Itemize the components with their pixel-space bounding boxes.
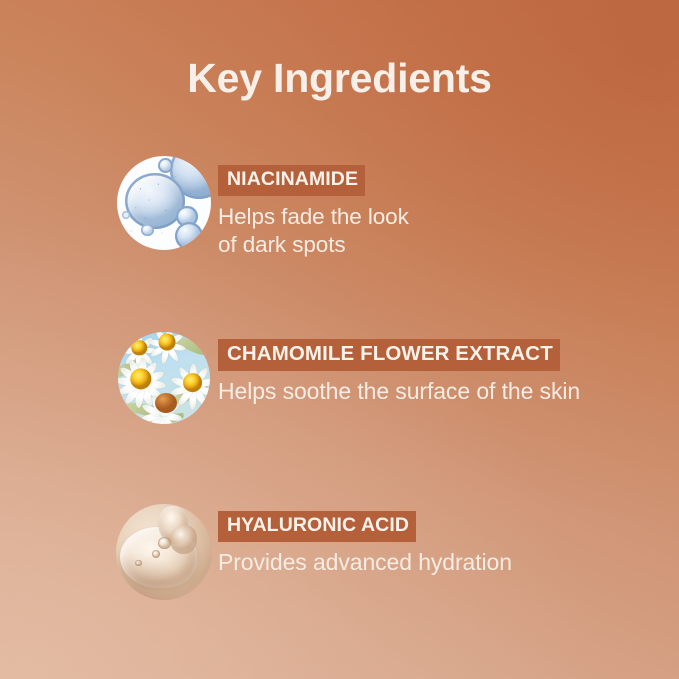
flower-bud bbox=[155, 393, 177, 413]
chamomile-flowers-swatch-icon bbox=[118, 332, 210, 424]
ingredient-row: HYALURONIC ACID Provides advanced hydrat… bbox=[110, 502, 655, 600]
page-title: Key Ingredients bbox=[0, 58, 679, 99]
ingredient-text-column: CHAMOMILE FLOWER EXTRACT Helps soothe th… bbox=[218, 330, 655, 405]
ingredient-text-column: HYALURONIC ACID Provides advanced hydrat… bbox=[218, 502, 655, 576]
ingredient-label: NIACINAMIDE bbox=[218, 165, 365, 196]
serum-shadow bbox=[116, 504, 212, 600]
swatch-wrap bbox=[110, 156, 218, 250]
daisy-center bbox=[158, 334, 175, 351]
swatch-wrap bbox=[110, 330, 218, 424]
ingredient-row: CHAMOMILE FLOWER EXTRACT Helps soothe th… bbox=[110, 330, 655, 424]
ingredient-description: Helps soothe the surface of the skin bbox=[218, 377, 655, 406]
ingredient-label: CHAMOMILE FLOWER EXTRACT bbox=[218, 339, 560, 371]
speckle-texture bbox=[117, 156, 211, 250]
ingredient-label: HYALURONIC ACID bbox=[218, 511, 416, 542]
cream-serum-gel-swatch-icon bbox=[116, 504, 212, 600]
ingredient-row: NIACINAMIDE Helps fade the look of dark … bbox=[110, 156, 655, 259]
ingredient-description: Helps fade the look of dark spots bbox=[218, 203, 655, 260]
daisy-center bbox=[183, 373, 203, 393]
blue-gel-bubbles-swatch-icon bbox=[117, 156, 211, 250]
swatch-wrap bbox=[110, 502, 218, 600]
ingredient-description: Provides advanced hydration bbox=[218, 548, 655, 577]
ingredient-text-column: NIACINAMIDE Helps fade the look of dark … bbox=[218, 156, 655, 259]
